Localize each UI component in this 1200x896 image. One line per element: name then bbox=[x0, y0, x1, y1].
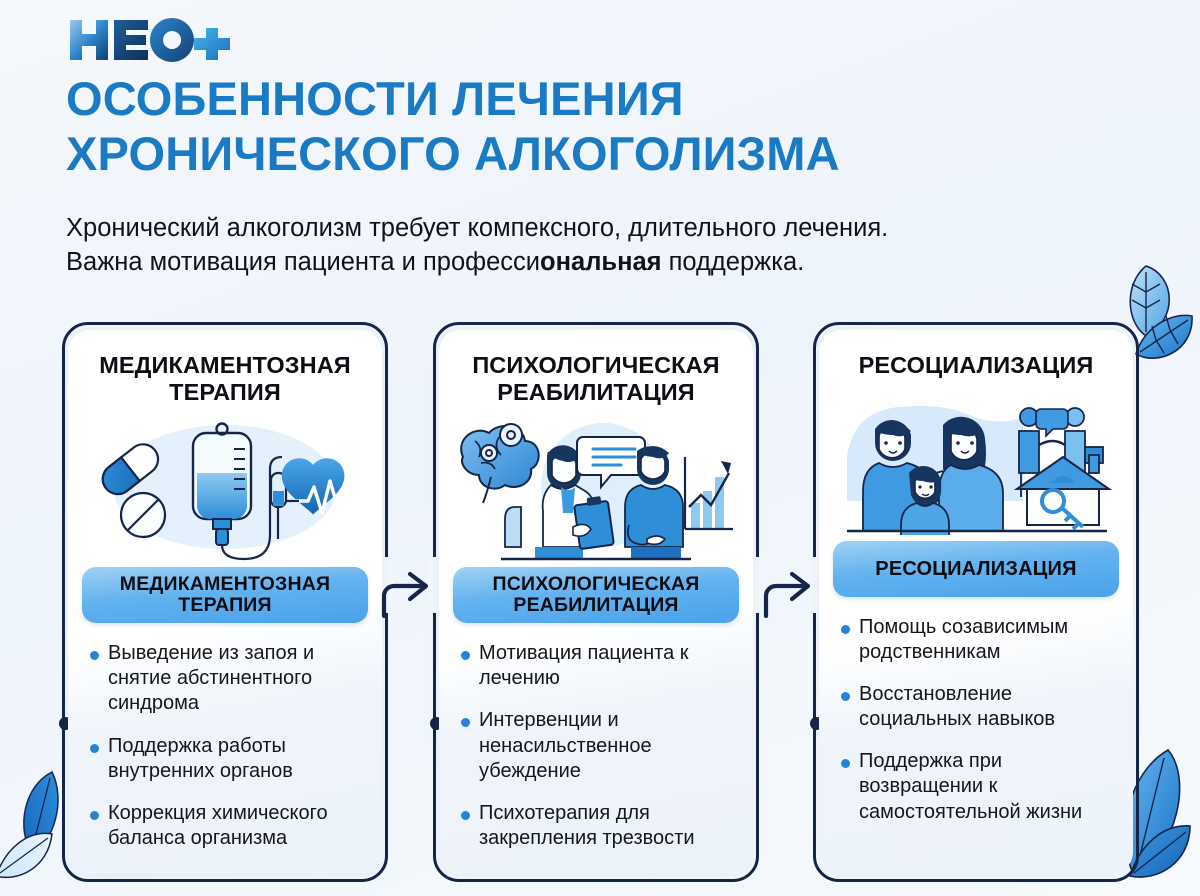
list-item-label: Поддержка работы внутренних органов bbox=[108, 734, 364, 784]
subtitle-line-1: Хронический алкоголизм требует компексно… bbox=[66, 214, 888, 242]
subtitle-line-2-plain-start: Важна мотивация пациента и професси bbox=[66, 248, 540, 276]
bullet-dot-icon bbox=[90, 651, 99, 660]
list-item: Поддержка при возвращении к самостоятель… bbox=[841, 749, 1115, 825]
card-badge[interactable]: ПСИХОЛОГИЧЕСКАЯ РЕАБИЛИТАЦИЯ bbox=[453, 567, 739, 623]
arrow-card2-to-card3-icon bbox=[760, 566, 816, 618]
bullet-dot-icon bbox=[841, 692, 850, 701]
card-badge[interactable]: РЕСОЦИАЛИЗАЦИЯ bbox=[833, 541, 1119, 597]
card-bullet-list: Помощь созависимым родственникам Восстан… bbox=[841, 615, 1115, 825]
page-title-line-2: ХРОНИЧЕСКОГО АЛКОГОЛИЗМА bbox=[66, 127, 1136, 182]
page-subtitle: Хронический алкоголизм требует компексно… bbox=[66, 212, 1126, 280]
list-item-label: Восстановление социальных навыков bbox=[859, 682, 1115, 732]
list-item-label: Помощь созависимым родственникам bbox=[859, 615, 1115, 665]
brand-logo[interactable] bbox=[66, 14, 236, 66]
bullet-dot-icon bbox=[841, 625, 850, 634]
card-bullet-list: Мотивация пациента к лечению Интервенции… bbox=[461, 641, 735, 851]
page-title: ОСОБЕННОСТИ ЛЕЧЕНИЯ ХРОНИЧЕСКОГО АЛКОГОЛ… bbox=[66, 72, 1136, 181]
list-item: Психотерапия для закрепления трезвости bbox=[461, 801, 735, 851]
list-item: Мотивация пациента к лечению bbox=[461, 641, 735, 691]
card-resocialization[interactable]: РЕСОЦИАЛИЗАЦИЯ bbox=[819, 330, 1133, 874]
subtitle-line-2-bold: ональная bbox=[540, 248, 662, 276]
list-item: Выведение из запоя и снятие абстинентног… bbox=[90, 641, 364, 717]
bullet-dot-icon bbox=[90, 811, 99, 820]
card-medication-therapy[interactable]: МЕДИКАМЕНТОЗНАЯ ТЕРАПИЯ bbox=[68, 330, 382, 874]
therapy-illustration bbox=[439, 411, 753, 561]
card-bullet-list: Выведение из запоя и снятие абстинентног… bbox=[90, 641, 364, 851]
list-item-label: Психотерапия для закрепления трезвости bbox=[479, 801, 735, 851]
infographic-page: ОСОБЕННОСТИ ЛЕЧЕНИЯ ХРОНИЧЕСКОГО АЛКОГОЛ… bbox=[0, 0, 1200, 896]
list-item-label: Коррекция химического баланса организма bbox=[108, 801, 364, 851]
list-item: Коррекция химического баланса организма bbox=[90, 801, 364, 851]
list-item: Восстановление социальных навыков bbox=[841, 682, 1115, 732]
page-title-line-1: ОСОБЕННОСТИ ЛЕЧЕНИЯ bbox=[66, 72, 684, 125]
list-item: Интервенции и ненасильственное убеждение bbox=[461, 708, 735, 784]
bullet-dot-icon bbox=[461, 718, 470, 727]
list-item-label: Выведение из запоя и снятие абстинентног… bbox=[108, 641, 364, 717]
bullet-dot-icon bbox=[841, 759, 850, 768]
card-title: МЕДИКАМЕНТОЗНАЯ ТЕРАПИЯ bbox=[84, 352, 366, 405]
card-psychological-rehabilitation[interactable]: ПСИХОЛОГИЧЕСКАЯ РЕАБИЛИТАЦИЯ bbox=[439, 330, 753, 874]
bullet-dot-icon bbox=[90, 744, 99, 753]
subtitle-line-2-plain-end: поддержка. bbox=[662, 248, 805, 276]
list-item-label: Интервенции и ненасильственное убеждение bbox=[479, 708, 735, 784]
card-title: ПСИХОЛОГИЧЕСКАЯ РЕАБИЛИТАЦИЯ bbox=[455, 352, 737, 405]
list-item-label: Поддержка при возвращении к самостоятель… bbox=[859, 749, 1115, 825]
resocialization-illustration bbox=[819, 385, 1133, 535]
card-title: РЕСОЦИАЛИЗАЦИЯ bbox=[835, 352, 1117, 379]
list-item: Помощь созависимым родственникам bbox=[841, 615, 1115, 665]
bullet-dot-icon bbox=[461, 651, 470, 660]
card-badge[interactable]: МЕДИКАМЕНТОЗНАЯ ТЕРАПИЯ bbox=[82, 567, 368, 623]
medication-illustration bbox=[68, 411, 382, 561]
bullet-dot-icon bbox=[461, 811, 470, 820]
list-item: Поддержка работы внутренних органов bbox=[90, 734, 364, 784]
list-item-label: Мотивация пациента к лечению bbox=[479, 641, 735, 691]
arrow-card1-to-card2-icon bbox=[378, 566, 434, 618]
